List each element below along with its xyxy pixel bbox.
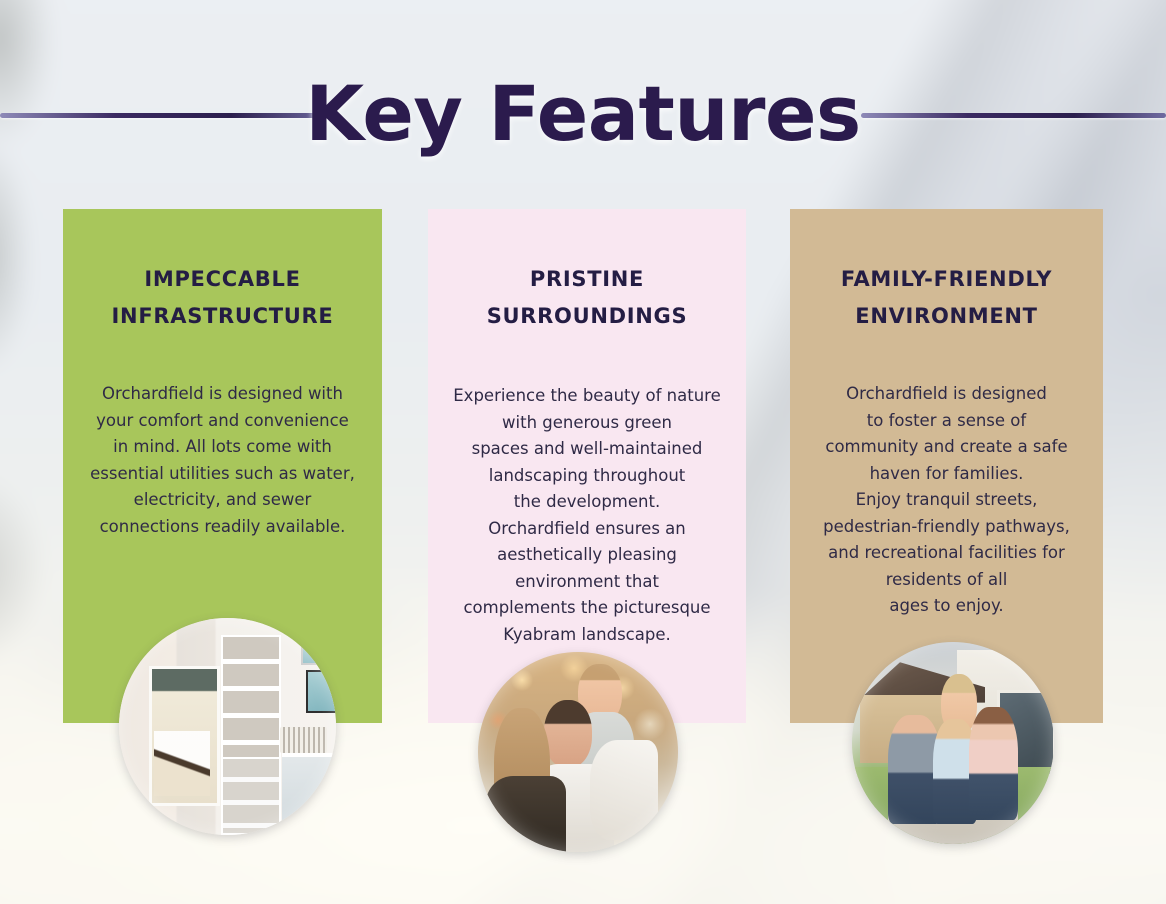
card-heading: IMPECCABLE INFRASTRUCTURE	[83, 261, 362, 335]
page-title: Key Features	[0, 60, 1166, 168]
photo-vignette	[478, 652, 678, 852]
header: Key Features	[0, 60, 1166, 170]
photo-vignette	[852, 642, 1054, 844]
card-heading: PRISTINE SURROUNDINGS	[448, 261, 726, 335]
photo-vignette	[119, 618, 336, 835]
feature-card-pristine-surroundings: PRISTINE SURROUNDINGS Experience the bea…	[428, 209, 746, 723]
family-in-front-of-house-photo	[852, 642, 1054, 844]
card-body: Experience the beauty of nature with gen…	[448, 383, 726, 648]
card-body: Orchardfield is designed with your comfo…	[83, 381, 362, 540]
card-body: Orchardfield is designed to foster a sen…	[810, 381, 1083, 620]
slide-key-features: Key Features IMPECCABLE INFRASTRUCTURE O…	[0, 0, 1166, 904]
card-heading: FAMILY-FRIENDLY ENVIRONMENT	[810, 261, 1083, 335]
interior-hallway-photo	[119, 618, 336, 835]
couple-with-toddler-photo	[478, 652, 678, 852]
